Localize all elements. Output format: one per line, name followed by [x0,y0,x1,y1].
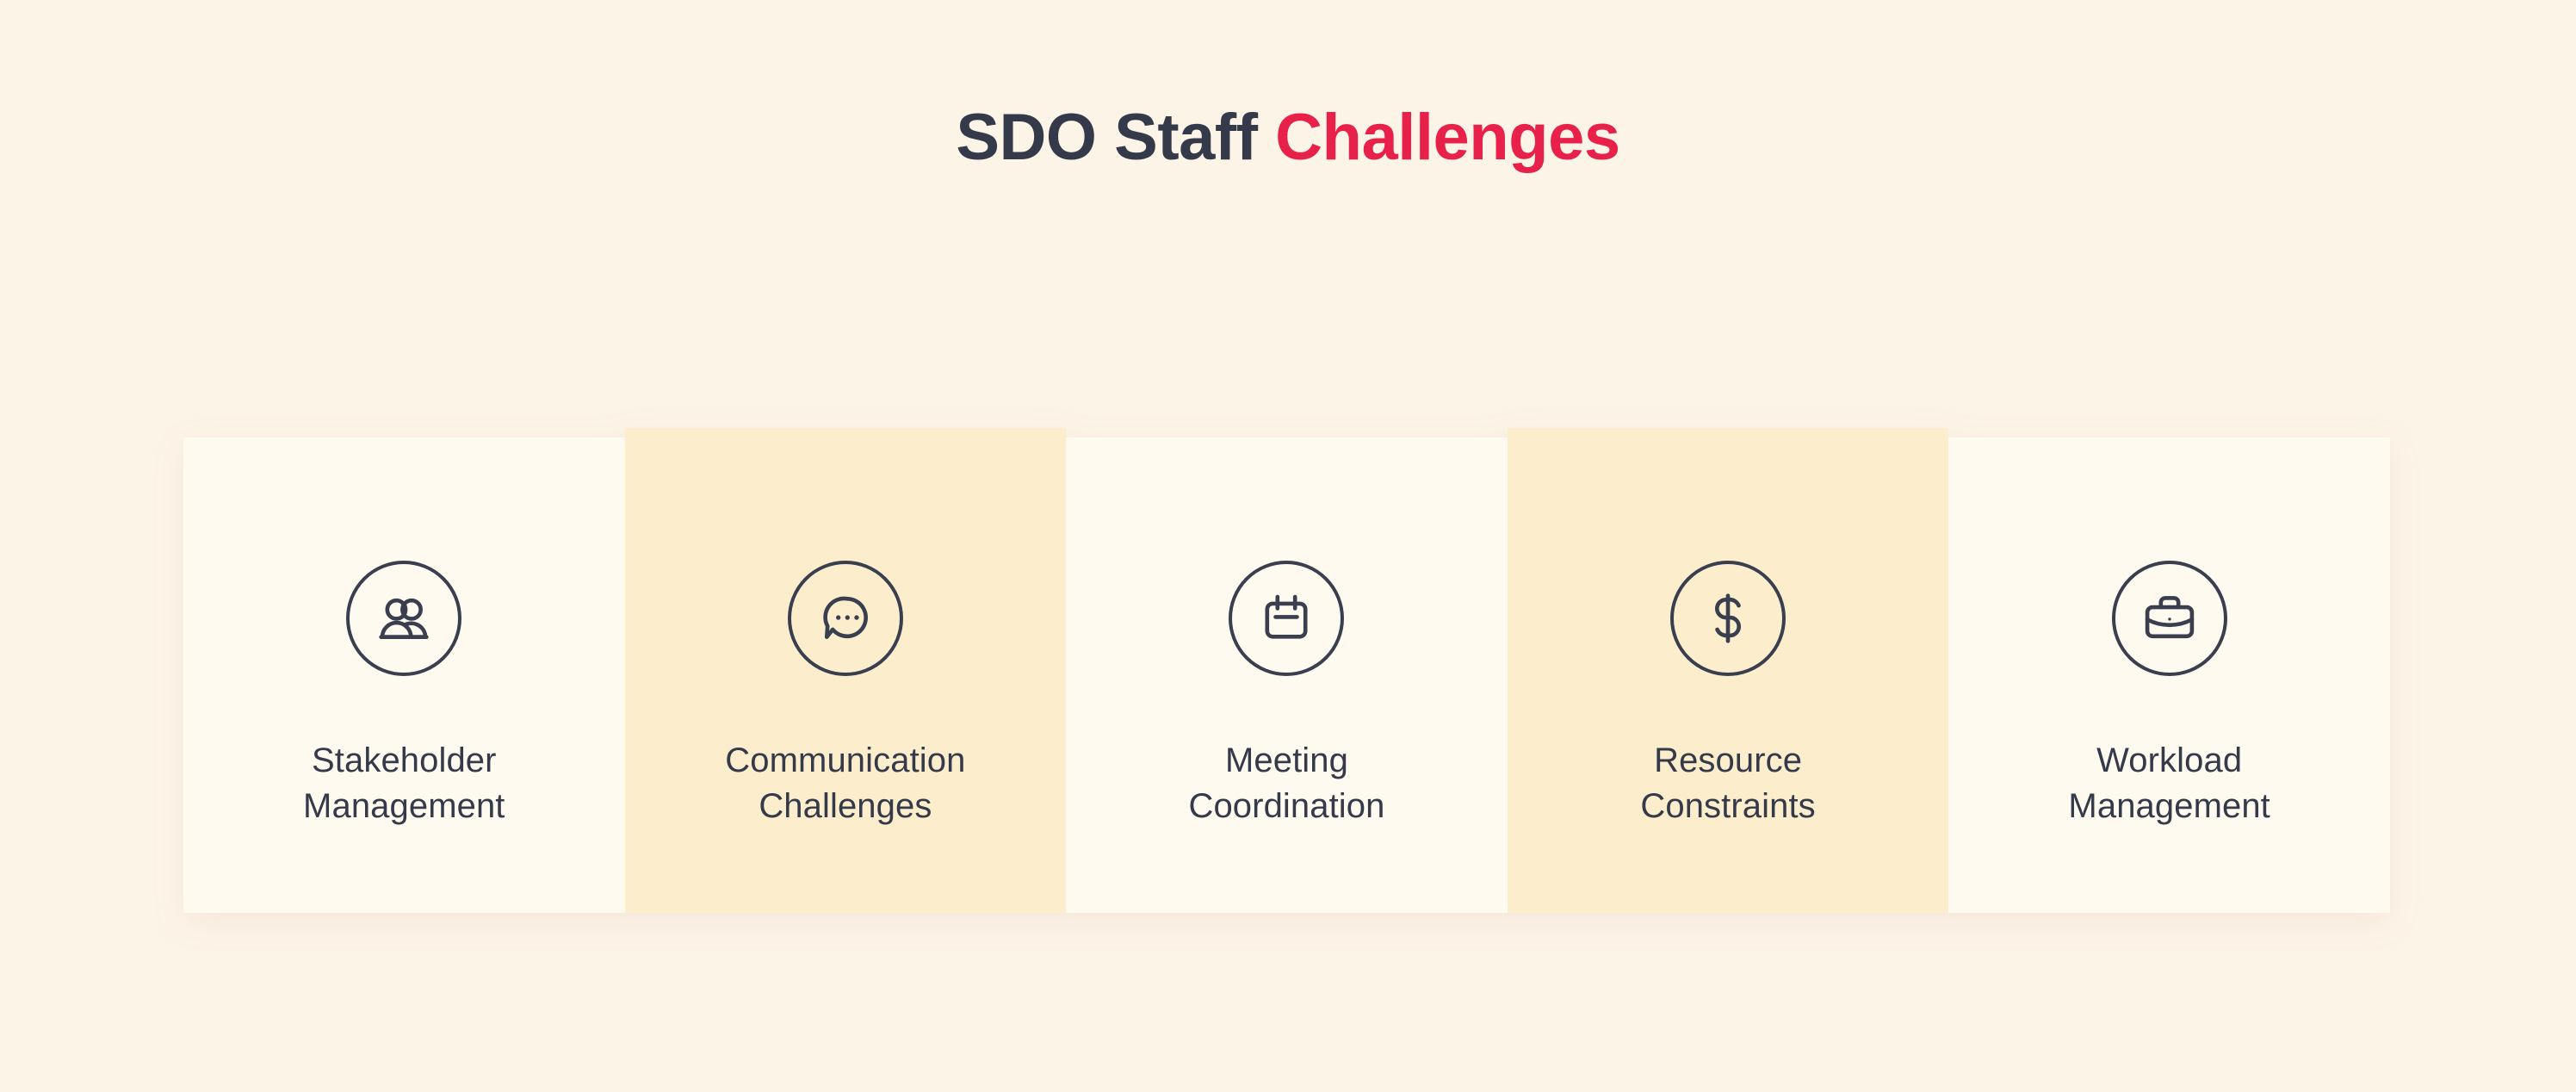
card-label-line-1: Workload [2096,741,2242,779]
card-label: MeetingCoordination [1180,738,1393,829]
challenge-card-workload-management[interactable]: WorkloadManagement [1948,437,2390,913]
title-segment-accent: Challenges [1275,101,1619,174]
challenge-card-meeting-coordination[interactable]: MeetingCoordination [1066,437,1508,913]
calendar-icon [1229,561,1344,676]
card-label-line-2: Coordination [1188,787,1384,825]
users-icon [346,561,461,676]
slide-root: SDO Staff Challenges StakeholderManageme… [0,0,2576,1092]
card-label: StakeholderManagement [294,738,513,829]
card-label-line-2: Management [2068,787,2269,825]
chat-bubble-dots-icon [788,561,903,676]
challenge-card-resource-constraints[interactable]: ResourceConstraints [1508,428,1949,913]
page-title: SDO Staff Challenges [0,102,2576,174]
card-label-line-2: Constraints [1640,787,1815,825]
challenge-card-strip: StakeholderManagement CommunicationChall… [183,437,2390,913]
challenge-card-stakeholder-management[interactable]: StakeholderManagement [183,437,625,913]
title-heading: SDO Staff Challenges [0,102,2576,174]
card-label-line-2: Management [303,787,505,825]
card-label: CommunicationChallenges [716,738,974,829]
card-label: ResourceConstraints [1632,738,1824,829]
card-label-line-1: Meeting [1225,741,1348,779]
card-label-line-2: Challenges [759,787,932,825]
card-label-line-1: Stakeholder [312,741,497,779]
title-segment-dark: SDO Staff [956,101,1275,174]
challenge-card-communication-challenges[interactable]: CommunicationChallenges [625,428,1067,913]
card-label-line-1: Resource [1654,741,1802,779]
card-label-line-1: Communication [725,741,965,779]
dollar-sign-icon [1670,561,1786,676]
card-label: WorkloadManagement [2059,738,2278,829]
briefcase-icon [2112,561,2227,676]
